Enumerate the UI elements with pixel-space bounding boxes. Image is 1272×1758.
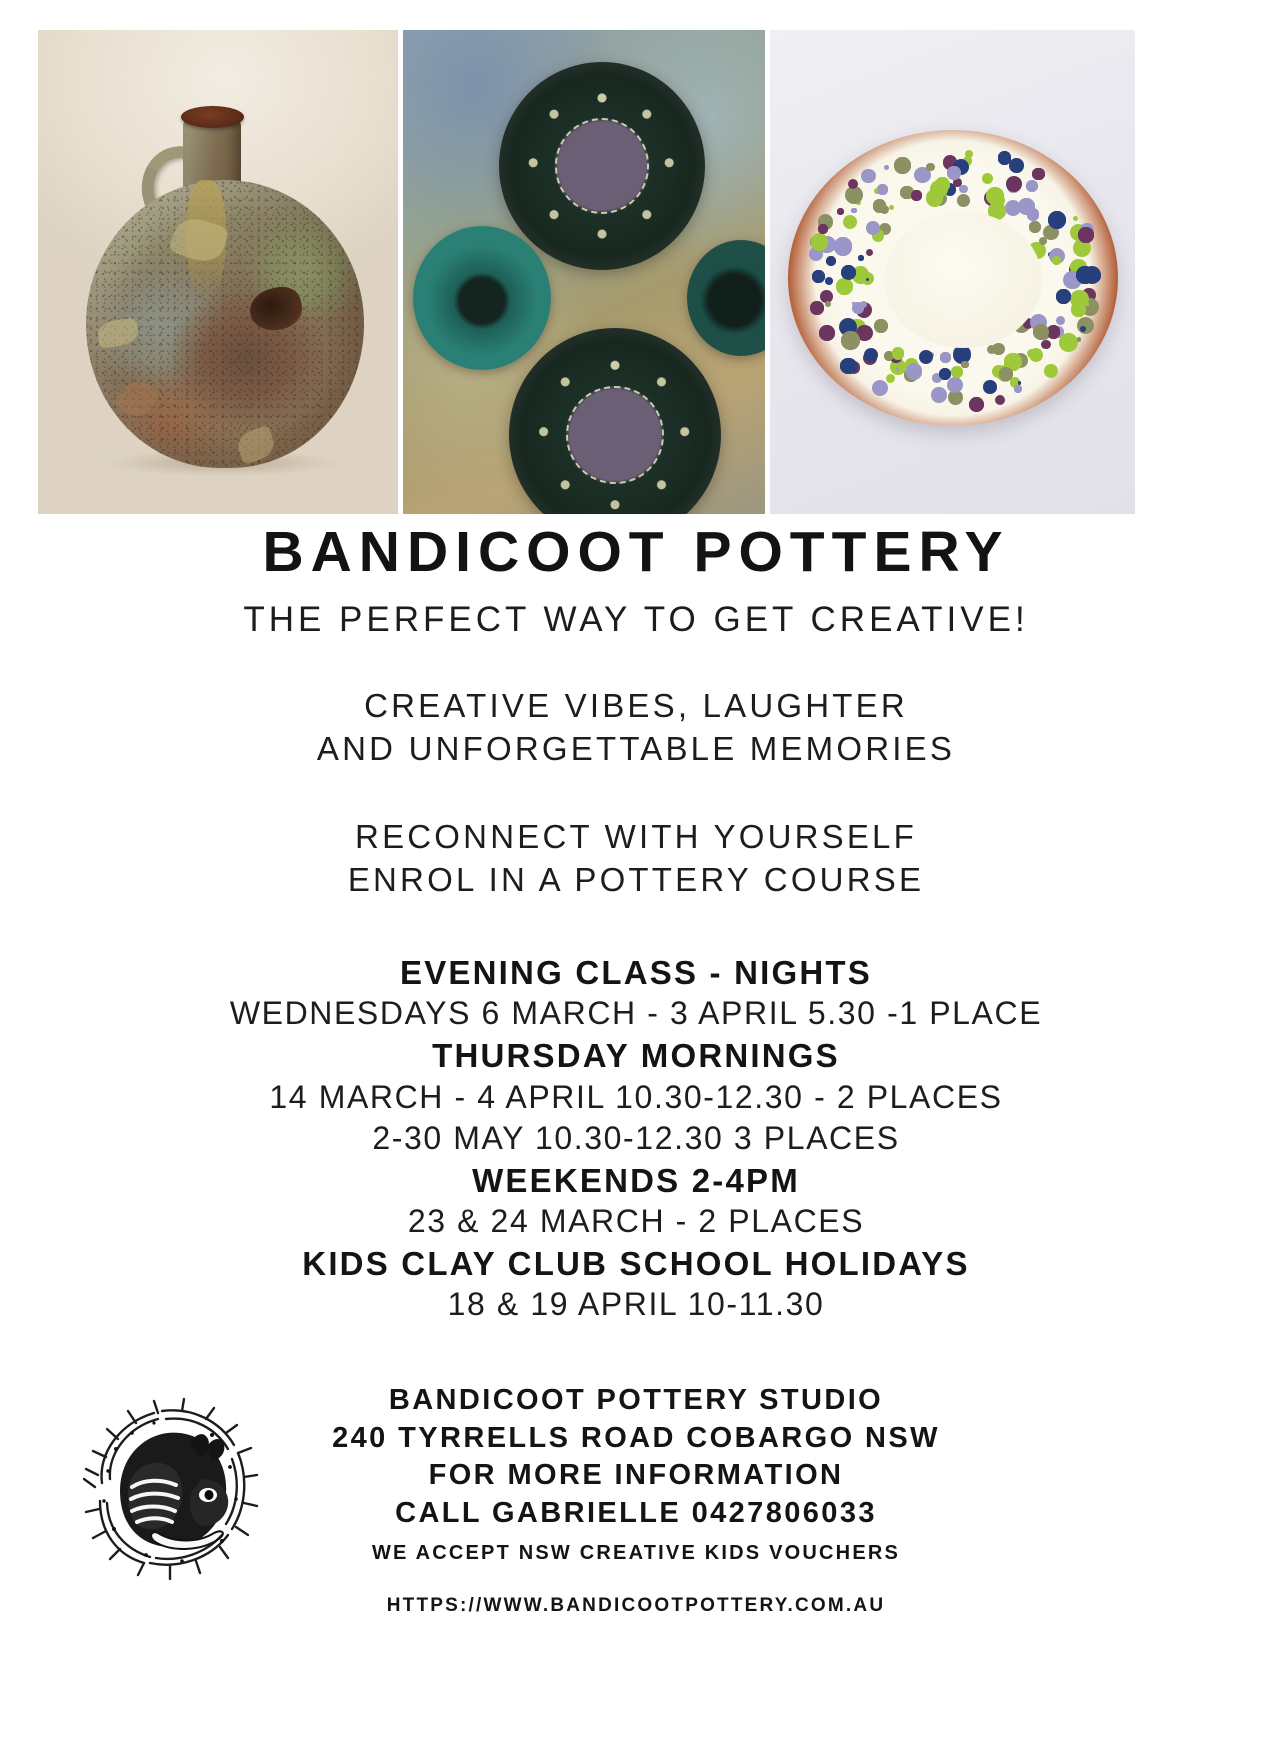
schedule-heading: THURSDAY MORNINGS — [0, 1035, 1272, 1077]
intro-line: ENROL IN A POTTERY COURSE — [0, 858, 1272, 902]
photo-dotted-bowl — [770, 30, 1135, 514]
photo-strip — [38, 30, 1135, 514]
glaze-dot — [860, 301, 867, 308]
teal-cup — [413, 226, 551, 370]
glaze-dot — [826, 256, 836, 266]
glaze-dot — [1026, 180, 1039, 193]
bowl-well — [884, 212, 1042, 348]
glaze-dot — [931, 387, 947, 403]
glaze-dot — [892, 347, 904, 359]
glaze-dot — [810, 301, 824, 315]
glaze-dot — [1006, 176, 1022, 192]
glaze-dot — [998, 151, 1012, 165]
glaze-dot — [858, 255, 864, 261]
schedule-group-evening-class: EVENING CLASS - NIGHTS WEDNESDAYS 6 MARC… — [0, 952, 1272, 1035]
glaze-dot — [947, 377, 963, 393]
glaze-dot — [1044, 364, 1059, 379]
glaze-dot — [818, 224, 827, 233]
page-title: BANDICOOT POTTERY — [0, 522, 1272, 582]
glaze-dot — [999, 367, 1013, 381]
glaze-dot — [1059, 333, 1078, 352]
glaze-dot — [947, 166, 961, 180]
glaze-dot — [889, 205, 894, 210]
glaze-dot — [1073, 216, 1078, 221]
glaze-dot — [919, 350, 933, 364]
photo-bowls — [403, 30, 765, 514]
glaze-dot — [1048, 211, 1067, 230]
schedule-heading: WEEKENDS 2-4PM — [0, 1160, 1272, 1202]
glaze-dot — [1018, 381, 1022, 385]
glaze-dot — [939, 368, 951, 380]
glaze-dot — [969, 397, 984, 412]
glaze-dot — [1080, 326, 1086, 332]
glaze-dot — [1077, 317, 1094, 334]
glaze-dot — [1027, 208, 1040, 221]
class-schedule: EVENING CLASS - NIGHTS WEDNESDAYS 6 MARC… — [0, 952, 1272, 1326]
schedule-line: 18 & 19 APRIL 10-11.30 — [0, 1284, 1272, 1326]
glaze-dot — [1009, 158, 1024, 173]
glaze-dot — [961, 361, 968, 368]
glaze-dot — [841, 331, 860, 350]
schedule-line: 14 MARCH - 4 APRIL 10.30-12.30 - 2 PLACE… — [0, 1077, 1272, 1119]
bowl-dash-ring — [566, 386, 664, 484]
glaze-dot — [836, 278, 853, 295]
glaze-dot — [1027, 349, 1037, 359]
glaze-dot — [992, 343, 1004, 355]
glaze-dot — [841, 265, 856, 280]
glaze-dot — [843, 215, 857, 229]
schedule-line: 2-30 MAY 10.30-12.30 3 PLACES — [0, 1118, 1272, 1160]
glaze-dot — [840, 358, 857, 375]
intro-paragraph-2: RECONNECT WITH YOURSELF ENROL IN A POTTE… — [0, 815, 1272, 902]
glaze-dot — [926, 163, 935, 172]
glaze-dot — [951, 366, 963, 378]
glaze-dot — [959, 185, 968, 194]
glaze-dot — [1076, 266, 1094, 284]
glaze-dot — [1039, 237, 1047, 245]
glaze-dot — [872, 380, 888, 396]
glaze-dot — [894, 157, 911, 174]
glaze-dot — [874, 319, 889, 334]
sgraffito-bowl — [509, 328, 721, 514]
glaze-dot — [884, 165, 889, 170]
glaze-dot — [911, 190, 922, 201]
glaze-dot — [1056, 316, 1065, 325]
sgraffito-bowl — [499, 62, 705, 270]
glaze-dot — [957, 194, 970, 207]
schedule-group-weekends: WEEKENDS 2-4PM 23 & 24 MARCH - 2 PLACES — [0, 1160, 1272, 1243]
flask-lip — [181, 106, 244, 128]
glaze-dot — [1041, 340, 1051, 350]
photo-flask — [38, 30, 398, 514]
glaze-dot — [1029, 221, 1041, 233]
schedule-group-kids-clay-club: KIDS CLAY CLUB SCHOOL HOLIDAYS 18 & 19 A… — [0, 1243, 1272, 1326]
glaze-dot — [812, 270, 825, 283]
glaze-dot — [845, 186, 863, 204]
glaze-dot — [834, 237, 853, 256]
glaze-dot — [896, 368, 899, 371]
glaze-dot — [1052, 256, 1062, 266]
glaze-dot — [1033, 324, 1049, 340]
glaze-dot — [983, 380, 996, 393]
glaze-dot — [886, 374, 895, 383]
glaze-dot — [811, 233, 828, 250]
page-subtitle: THE PERFECT WAY TO GET CREATIVE! — [0, 600, 1272, 639]
glaze-dot — [851, 208, 857, 214]
poster: BANDICOOT POTTERY THE PERFECT WAY TO GET… — [0, 0, 1272, 1758]
glaze-dot — [906, 363, 922, 379]
glaze-dot — [861, 169, 875, 183]
glaze-dot — [1056, 289, 1070, 303]
dotted-bowl — [788, 130, 1118, 426]
schedule-heading: KIDS CLAY CLUB SCHOOL HOLIDAYS — [0, 1243, 1272, 1285]
glaze-dot — [940, 352, 951, 363]
glaze-dot — [825, 301, 831, 307]
schedule-line: WEDNESDAYS 6 MARCH - 3 APRIL 5.30 -1 PLA… — [0, 993, 1272, 1035]
glaze-dot — [1071, 302, 1086, 317]
glaze-dot — [1078, 227, 1094, 243]
glaze-dot — [819, 325, 835, 341]
schedule-group-thursday-mornings: THURSDAY MORNINGS 14 MARCH - 4 APRIL 10.… — [0, 1035, 1272, 1160]
glaze-dot — [1077, 337, 1081, 341]
glaze-dot — [825, 277, 833, 285]
bowl-dash-ring — [555, 118, 650, 214]
schedule-line: 23 & 24 MARCH - 2 PLACES — [0, 1201, 1272, 1243]
glaze-dot — [1032, 168, 1045, 181]
schedule-heading: EVENING CLASS - NIGHTS — [0, 952, 1272, 994]
intro-paragraph-1: CREATIVE VIBES, LAUGHTER AND UNFORGETTAB… — [0, 684, 1272, 771]
glaze-dot — [995, 395, 1005, 405]
glaze-dot — [1014, 385, 1022, 393]
intro-line: AND UNFORGETTABLE MEMORIES — [0, 727, 1272, 771]
glaze-dot — [877, 184, 888, 195]
intro-line: RECONNECT WITH YOURSELF — [0, 815, 1272, 859]
glaze-dot — [837, 208, 845, 216]
teal-cup — [687, 240, 765, 356]
glaze-dot — [866, 249, 873, 256]
intro-line: CREATIVE VIBES, LAUGHTER — [0, 684, 1272, 728]
glaze-dot — [982, 173, 993, 184]
glaze-dot — [852, 302, 855, 305]
bandicoot-in-nest-logo — [62, 1383, 277, 1598]
